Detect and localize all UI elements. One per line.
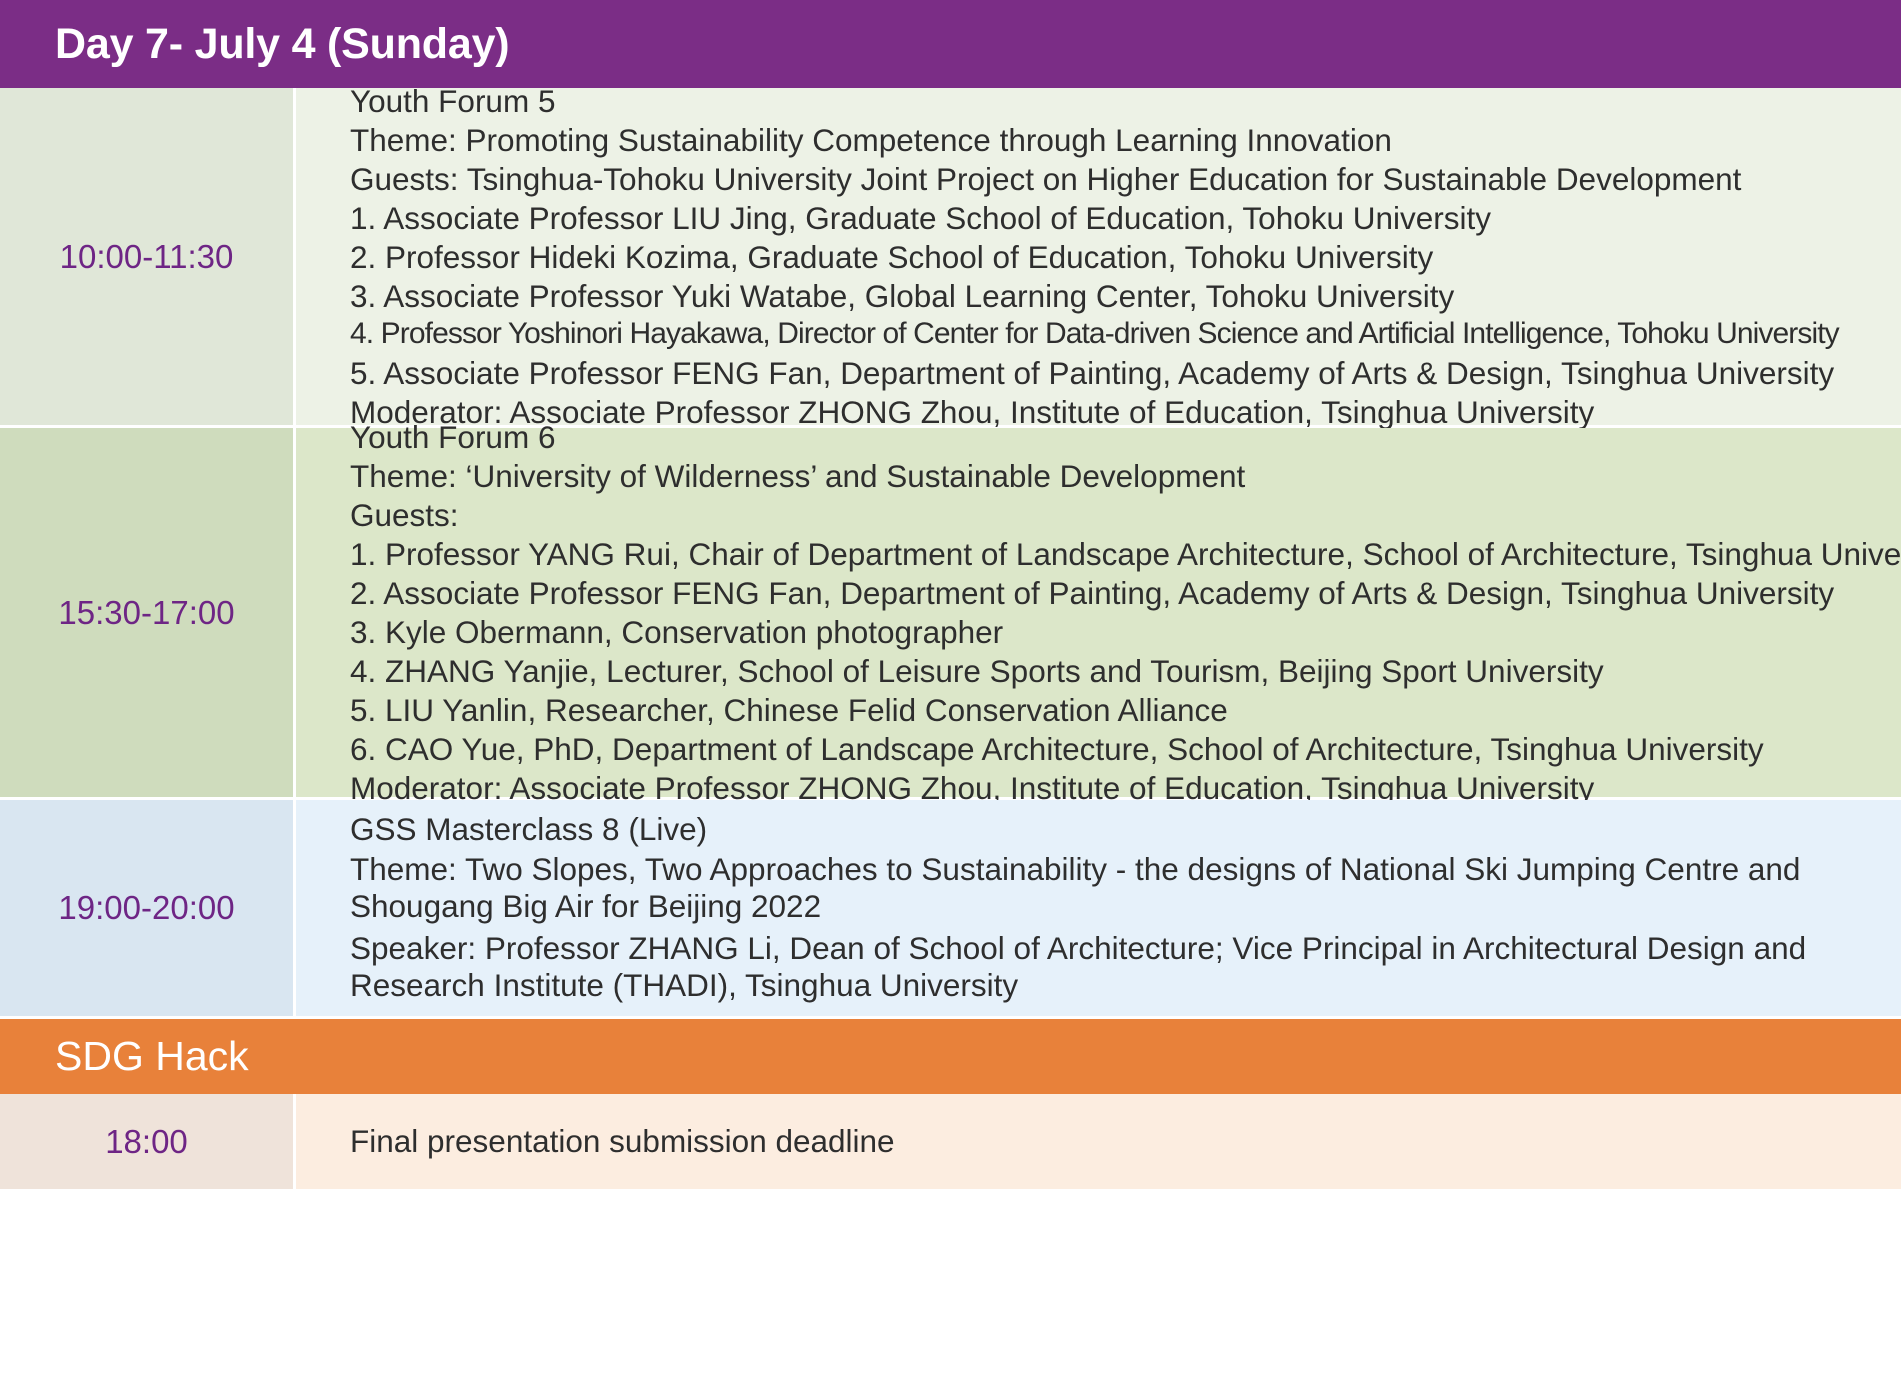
section-band-sdg-hack: SDG Hack [0, 1019, 1901, 1094]
time-cell: 19:00-20:00 [0, 800, 296, 1016]
section-band-title: SDG Hack [55, 1036, 249, 1077]
time-label: 10:00-11:30 [60, 238, 234, 276]
session-theme: Theme: ‘University of Wilderness’ and Su… [350, 456, 1901, 495]
session-title: Final presentation submission deadline [350, 1122, 1881, 1161]
time-label: 19:00-20:00 [58, 889, 234, 927]
time-cell: 18:00 [0, 1094, 296, 1189]
detail-cell: GSS Masterclass 8 (Live) Theme: Two Slop… [296, 800, 1901, 1016]
schedule-row-youth-forum-5: 10:00-11:30 Youth Forum 5 Theme: Promoti… [0, 88, 1901, 428]
session-guests-intro: Guests: Tsinghua-Tohoku University Joint… [350, 160, 1881, 199]
guest-item: 4. ZHANG Yanjie, Lecturer, School of Lei… [350, 652, 1901, 691]
detail-cell: Youth Forum 6 Theme: ‘University of Wild… [296, 428, 1901, 797]
guest-item: 3. Associate Professor Yuki Watabe, Glob… [350, 277, 1881, 316]
session-speaker: Speaker: Professor ZHANG Li, Dean of Sch… [350, 928, 1881, 1007]
session-theme: Theme: Two Slopes, Two Approaches to Sus… [350, 848, 1881, 927]
guest-item: 6. CAO Yue, PhD, Department of Landscape… [350, 730, 1901, 769]
session-title: Youth Forum 6 [350, 417, 1901, 456]
detail-cell: Youth Forum 5 Theme: Promoting Sustainab… [296, 88, 1901, 425]
guest-item: 3. Kyle Obermann, Conservation photograp… [350, 613, 1901, 652]
session-title: GSS Masterclass 8 (Live) [350, 809, 1881, 848]
schedule-row-sdg-hack-deadline: 18:00 Final presentation submission dead… [0, 1094, 1901, 1189]
session-title: Youth Forum 5 [350, 82, 1881, 121]
time-cell: 15:30-17:00 [0, 428, 296, 797]
time-label: 18:00 [105, 1123, 188, 1161]
guest-item: 2. Professor Hideki Kozima, Graduate Sch… [350, 238, 1881, 277]
day-header-band: Day 7- July 4 (Sunday) [0, 0, 1901, 88]
time-cell: 10:00-11:30 [0, 88, 296, 425]
session-theme: Theme: Promoting Sustainability Competen… [350, 121, 1881, 160]
day-header-title: Day 7- July 4 (Sunday) [55, 23, 509, 66]
guest-item: 4. Professor Yoshinori Hayakawa, Directo… [350, 316, 1881, 353]
guest-item: 2. Associate Professor FENG Fan, Departm… [350, 573, 1901, 612]
schedule-row-youth-forum-6: 15:30-17:00 Youth Forum 6 Theme: ‘Univer… [0, 428, 1901, 800]
time-label: 15:30-17:00 [58, 594, 234, 632]
guest-item: 5. LIU Yanlin, Researcher, Chinese Felid… [350, 691, 1901, 730]
guest-item: 1. Associate Professor LIU Jing, Graduat… [350, 199, 1881, 238]
guest-item: 1. Professor YANG Rui, Chair of Departme… [350, 534, 1901, 573]
schedule-row-gss-masterclass-8: 19:00-20:00 GSS Masterclass 8 (Live) The… [0, 800, 1901, 1019]
day-schedule-table: Day 7- July 4 (Sunday) 10:00-11:30 Youth… [0, 0, 1901, 1389]
guest-item: 5. Associate Professor FENG Fan, Departm… [350, 353, 1881, 392]
session-guests-intro: Guests: [350, 495, 1901, 534]
detail-cell: Final presentation submission deadline [296, 1094, 1901, 1189]
